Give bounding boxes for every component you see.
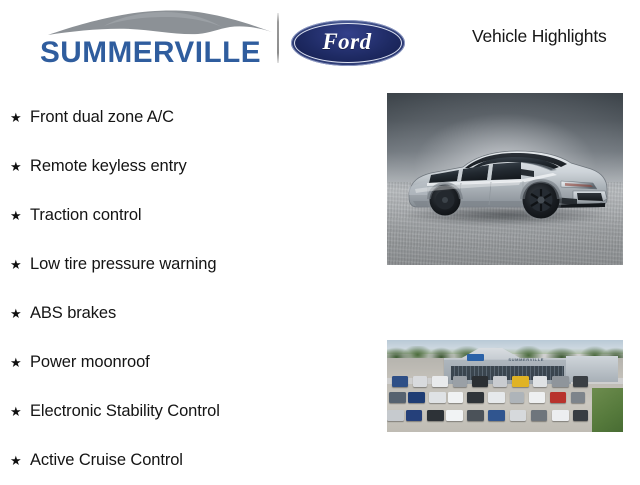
feature-label: Power moonroof	[30, 353, 150, 372]
ford-oval-logo-icon[interactable]: Ford	[291, 20, 405, 66]
feature-label: Front dual zone A/C	[30, 108, 174, 127]
list-item: ★ Remote keyless entry	[0, 142, 372, 191]
car-silhouette-icon	[46, 8, 278, 38]
list-item: ★ ABS brakes	[0, 289, 372, 338]
page-header: SUMMERVILLE Ford Vehicle Highlights	[0, 0, 640, 84]
dealership-photo[interactable]: SUMMERVILLE	[387, 340, 623, 432]
feature-label: Active Cruise Control	[30, 451, 183, 470]
star-bullet-icon: ★	[10, 160, 30, 173]
dealer-wordmark: SUMMERVILLE	[40, 36, 276, 70]
vertical-divider-icon	[277, 13, 279, 63]
list-item: ★ Active Cruise Control	[0, 436, 372, 485]
list-item: ★ Power moonroof	[0, 338, 372, 387]
vehicle-highlights-list: ★ Front dual zone A/C ★ Remote keyless e…	[0, 93, 372, 485]
car-row	[387, 392, 623, 403]
star-bullet-icon: ★	[10, 405, 30, 418]
brand-sign	[467, 354, 484, 361]
star-bullet-icon: ★	[10, 454, 30, 467]
feature-label: Low tire pressure warning	[30, 255, 216, 274]
building-sign-text: SUMMERVILLE	[498, 356, 555, 363]
car-row	[387, 376, 623, 387]
star-bullet-icon: ★	[10, 258, 30, 271]
vehicle-photo[interactable]	[387, 93, 623, 265]
sedan-illustration	[401, 137, 611, 225]
star-bullet-icon: ★	[10, 209, 30, 222]
ford-wordmark: Ford	[291, 20, 405, 66]
dealer-logo[interactable]: SUMMERVILLE	[40, 8, 278, 74]
list-item: ★ Traction control	[0, 191, 372, 240]
list-item: ★ Front dual zone A/C	[0, 93, 372, 142]
feature-label: Traction control	[30, 206, 142, 225]
page-title: Vehicle Highlights	[472, 26, 607, 47]
feature-label: Remote keyless entry	[30, 157, 187, 176]
list-item: ★ Low tire pressure warning	[0, 240, 372, 289]
list-item: ★ Electronic Stability Control	[0, 387, 372, 436]
star-bullet-icon: ★	[10, 111, 30, 124]
feature-label: Electronic Stability Control	[30, 402, 220, 421]
feature-label: ABS brakes	[30, 304, 116, 323]
car-row	[387, 410, 623, 421]
star-bullet-icon: ★	[10, 307, 30, 320]
star-bullet-icon: ★	[10, 356, 30, 369]
